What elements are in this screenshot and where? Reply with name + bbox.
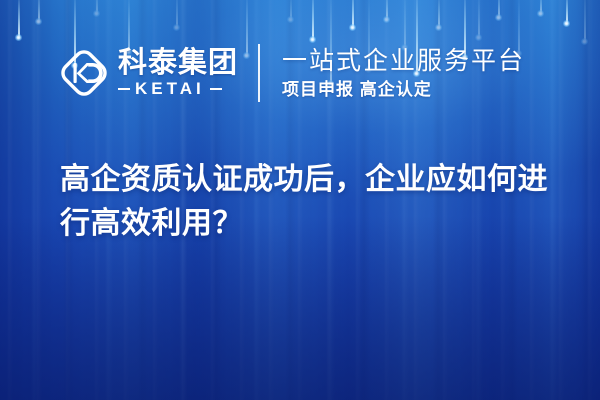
tagline-block: 一站式企业服务平台 项目申报 高企认定 [282,46,525,101]
tagline-main: 一站式企业服务平台 [282,46,525,76]
brand-name-cn: 科泰集团 [118,48,238,78]
header-divider [258,44,260,102]
brand-header: 科泰集团 KETAI 一站式企业服务平台 项目申报 高企认定 [58,44,525,102]
headline-title: 高企资质认证成功后，企业应如何进行高效利用？ [60,158,570,246]
ketai-diamond-kd-logo-icon [58,47,110,99]
dash-right-icon [210,88,222,90]
tagline-sub: 项目申报 高企认定 [282,79,525,101]
brand-name-en: KETAI [130,80,210,98]
promo-banner: 科泰集团 KETAI 一站式企业服务平台 项目申报 高企认定 高企资质认证成功后… [0,0,600,400]
brand-wordmark: 科泰集团 KETAI [118,48,238,98]
brand-name-en-row: KETAI [118,80,238,98]
dash-left-icon [118,88,130,90]
